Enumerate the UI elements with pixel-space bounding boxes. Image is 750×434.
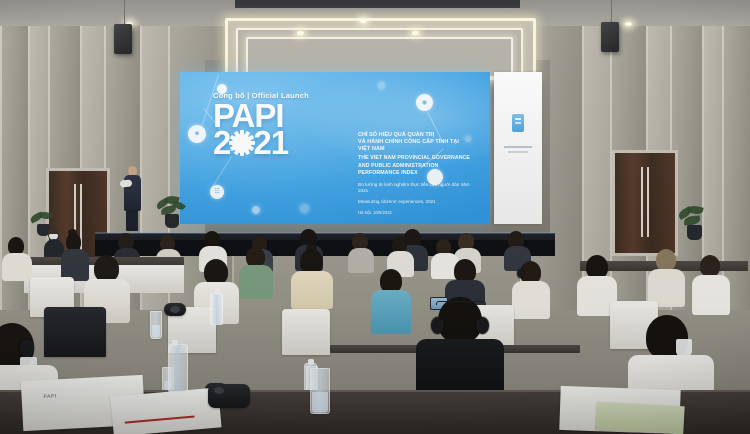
slide-right-text: CHỈ SỐ HIỆU QUẢ QUẢN TRỊ VÀ HÀNH CHÍNH C…: [358, 132, 470, 215]
interpretation-headset: [431, 317, 444, 334]
gear-icon: [229, 131, 254, 156]
audience-chair: [282, 309, 330, 355]
right-speaker-rod: [611, 0, 612, 24]
interpretation-headset: [517, 269, 524, 278]
slide-title-year: 2 21: [213, 129, 288, 157]
slide-node-bubble: ☷: [210, 185, 224, 199]
ceiling-downlight: [412, 31, 419, 35]
slide-node-bubble: [300, 204, 309, 213]
report-book-icon: [512, 114, 524, 132]
chart-icon: ☷: [210, 185, 224, 199]
headphones[interactable]: [208, 384, 250, 408]
slide-title-en-2: AND PUBLIC ADMINISTRATION PERFORMANCE IN…: [358, 163, 470, 177]
slide-date: Hà Nội, 10/5/2022: [358, 210, 470, 215]
slide-node-bubble: [378, 82, 385, 89]
headphones[interactable]: [164, 303, 186, 316]
left-speaker-rod: [124, 0, 125, 26]
slide-text-block: Công bố | Official Launch PAPI 2: [213, 91, 468, 157]
printed-report[interactable]: [595, 402, 684, 434]
headset-band: [436, 301, 486, 305]
right-hanging-speaker: [601, 22, 619, 52]
slide-subtitle-vn: Đo lường từ kinh nghiệm thực tiễn của ng…: [358, 182, 470, 194]
ceiling-dark-strip: [235, 0, 520, 8]
slide-node-bubble: ☻: [188, 125, 206, 143]
interpretation-headset: [476, 317, 489, 334]
slide-subtitle-en: Measuring citizens' experiences, 2021: [358, 199, 470, 205]
audience-chair: [44, 307, 106, 357]
led-presentation-screen: ☻ ☷ ◉ Công bố | Official Launch PAPI 2: [180, 72, 490, 224]
side-banner: [494, 72, 542, 224]
people-icon: ☻: [188, 125, 206, 143]
left-hanging-speaker: [114, 24, 132, 54]
ceiling-downlight: [297, 31, 304, 35]
conference-photo: ☻ ☷ ◉ Công bố | Official Launch PAPI 2: [0, 0, 750, 434]
slide-title-en-1: THE VIET NAM PROVINCIAL GOVERNANCE: [358, 155, 470, 162]
ceiling-downlight: [625, 22, 632, 26]
ceiling-downlight: [360, 19, 367, 23]
headphone-cup: [20, 339, 34, 357]
printed-report[interactable]: [110, 387, 221, 434]
report-cover-text: PAPI: [43, 393, 56, 400]
water-bottle[interactable]: [168, 344, 188, 392]
water-glass[interactable]: [310, 368, 330, 414]
slide-title-vn-2: VÀ HÀNH CHÍNH CÔNG CẤP TỈNH TẠI VIỆT NAM: [358, 139, 470, 153]
water-bottle[interactable]: [210, 293, 223, 325]
water-glass[interactable]: [150, 311, 162, 339]
slide-title-vn-1: CHỈ SỐ HIỆU QUẢ QUẢN TRỊ: [358, 132, 470, 139]
